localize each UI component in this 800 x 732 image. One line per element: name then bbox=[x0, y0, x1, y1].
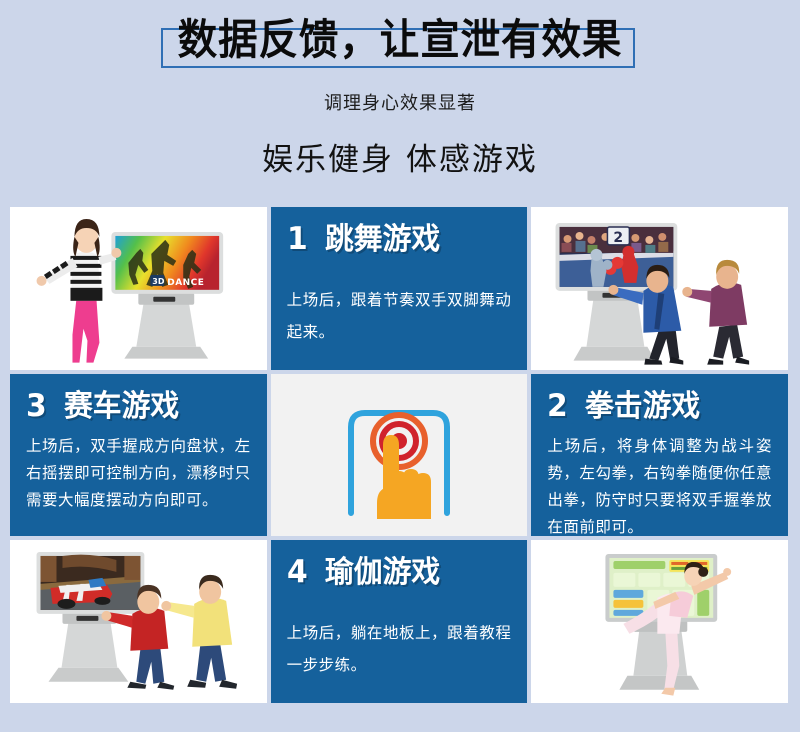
yoga-scene bbox=[531, 540, 788, 703]
game-card-racing-name: 赛车游戏 bbox=[64, 389, 179, 424]
dance-scene: 3D DANCE bbox=[10, 207, 267, 370]
svg-text:3D: 3D bbox=[152, 277, 165, 286]
game-card-boxing: 2拳击游戏 上场后，将身体调整为战斗姿势，左勾拳，右钩拳随便你任意出拳，防守时只… bbox=[531, 374, 788, 537]
svg-text:2: 2 bbox=[614, 230, 624, 246]
boxing-game-kiosk-photo: 2 bbox=[531, 207, 788, 370]
yoga-game-kiosk-photo bbox=[531, 540, 788, 703]
game-card-boxing-number: 2 bbox=[547, 388, 568, 424]
section-heading: 娱乐健身 体感游戏 bbox=[0, 140, 800, 180]
game-card-yoga: 4瑜伽游戏 上场后，躺在地板上，跟着教程一步步练。 bbox=[271, 540, 528, 703]
game-card-yoga-number: 4 bbox=[287, 554, 308, 590]
title-block: 数据反馈，让宣泄有效果 bbox=[161, 12, 639, 74]
game-card-dance: 1跳舞游戏 上场后，跟着节奏双手双脚舞动起来。 bbox=[271, 207, 528, 370]
svg-text:DANCE: DANCE bbox=[167, 278, 204, 288]
page-header: 数据反馈，让宣泄有效果 调理身心效果显著 娱乐健身 体感游戏 bbox=[0, 0, 800, 180]
touch-gesture-cell bbox=[271, 374, 528, 537]
game-card-dance-name: 跳舞游戏 bbox=[325, 222, 440, 257]
game-card-dance-description: 上场后，跟着节奏双手双脚舞动起来。 bbox=[287, 284, 512, 348]
game-card-boxing-name: 拳击游戏 bbox=[585, 389, 700, 424]
racing-scene bbox=[10, 540, 267, 703]
game-feature-grid: 3D DANCE bbox=[10, 207, 788, 703]
boxing-scene: 2 bbox=[531, 207, 788, 370]
game-card-racing: 3赛车游戏 上场后，双手握成方向盘状，左右摇摆即可控制方向，漂移时只需要大幅度摆… bbox=[10, 374, 267, 537]
game-card-dance-number: 1 bbox=[287, 221, 308, 257]
game-card-yoga-title: 4瑜伽游戏 bbox=[287, 554, 503, 591]
game-card-racing-description: 上场后，双手握成方向盘状，左右摇摆即可控制方向，漂移时只需要大幅度摆动方向即可。 bbox=[26, 433, 251, 514]
game-card-racing-title: 3赛车游戏 bbox=[26, 388, 242, 425]
game-card-boxing-description: 上场后，将身体调整为战斗姿势，左勾拳，右钩拳随便你任意出拳，防守时只要将双手握拳… bbox=[547, 433, 772, 537]
game-card-dance-title: 1跳舞游戏 bbox=[287, 221, 503, 258]
racing-game-kiosk-photo bbox=[10, 540, 267, 703]
game-card-yoga-description: 上场后，躺在地板上，跟着教程一步步练。 bbox=[287, 617, 512, 681]
game-card-racing-number: 3 bbox=[26, 388, 47, 424]
game-card-boxing-title: 2拳击游戏 bbox=[547, 388, 763, 425]
page-subtitle: 调理身心效果显著 bbox=[0, 92, 800, 116]
touch-tap-gesture-icon bbox=[329, 391, 469, 519]
dance-game-kiosk-photo: 3D DANCE bbox=[10, 207, 267, 370]
page-title: 数据反馈，让宣泄有效果 bbox=[175, 12, 624, 68]
game-card-yoga-name: 瑜伽游戏 bbox=[325, 555, 440, 590]
